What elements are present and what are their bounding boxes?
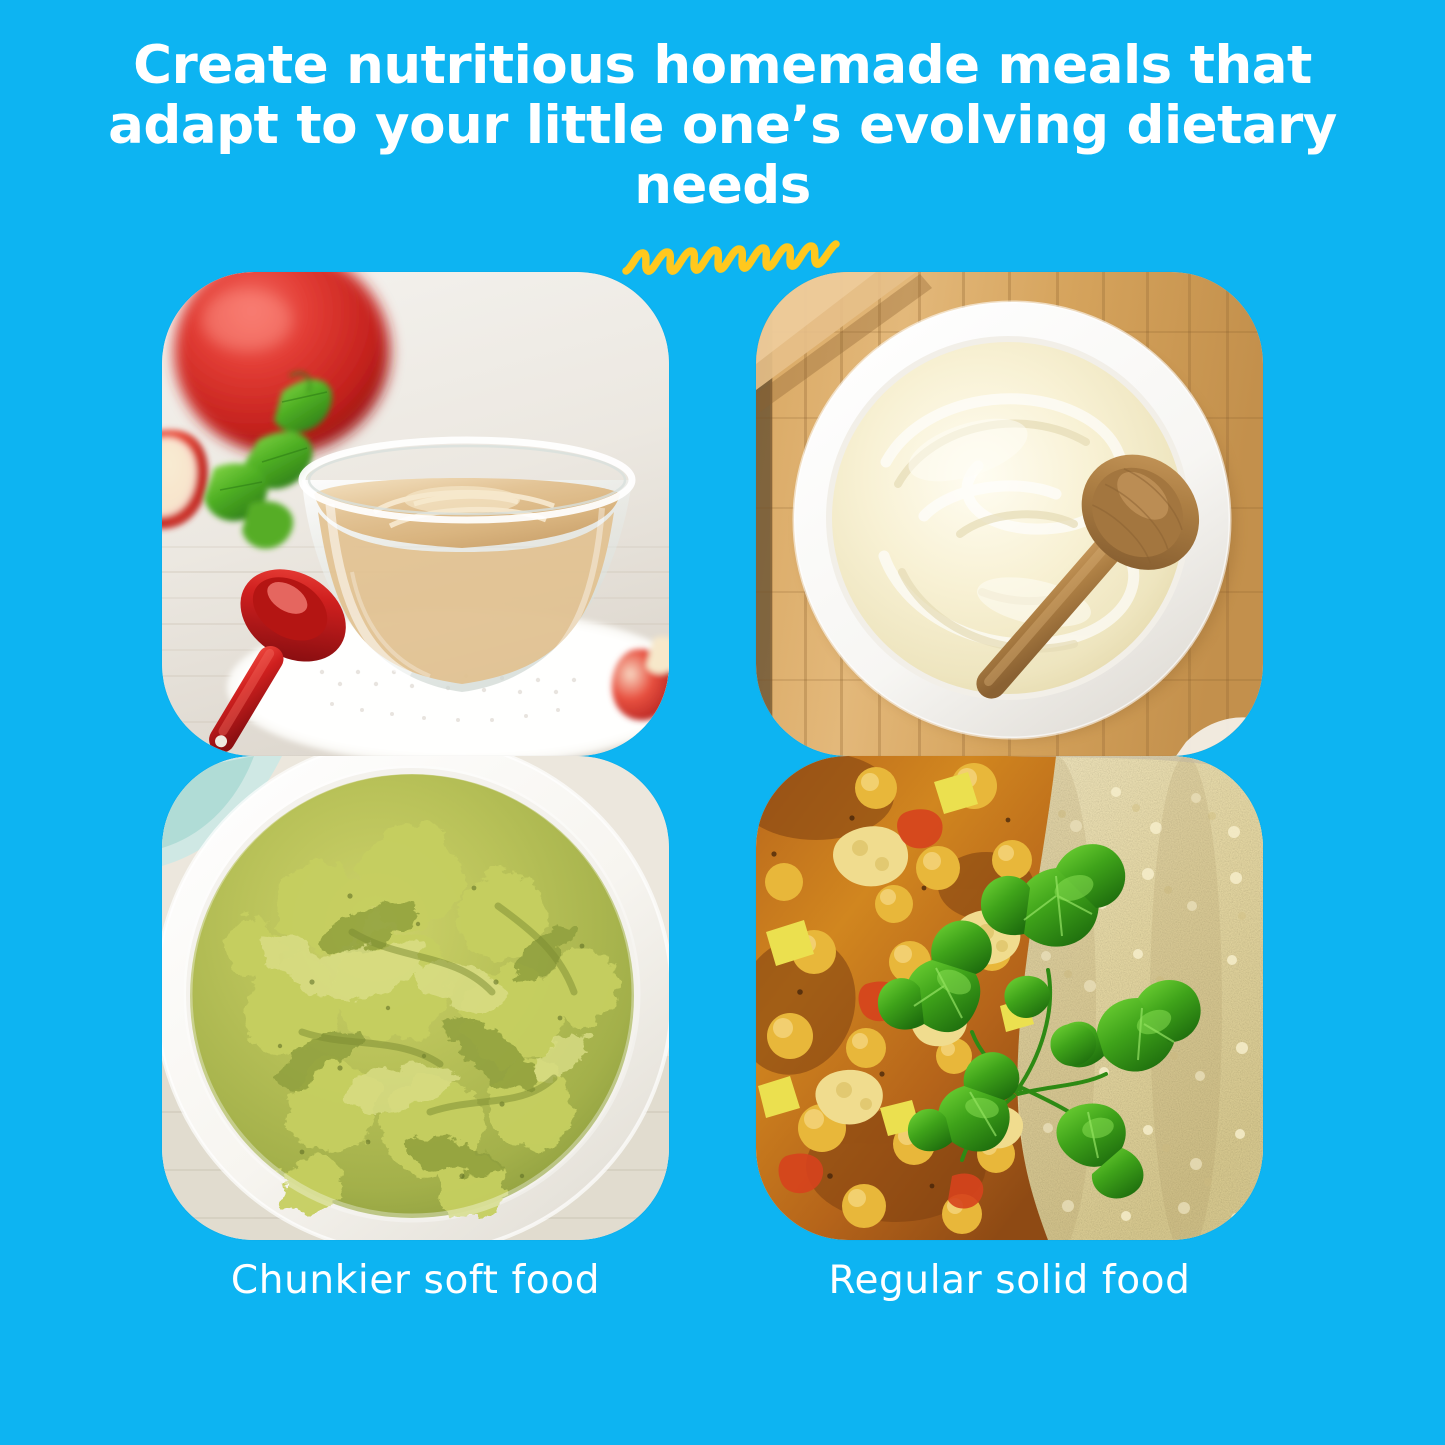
thick-creamy-puree-photo	[756, 272, 1263, 756]
stage-card-regular-solid-food[interactable]: Regular solid food	[756, 756, 1263, 1240]
stage-caption: Chunkier soft food	[162, 1258, 669, 1304]
stage-caption: Regular solid food	[756, 1258, 1263, 1304]
stage-grid: Smooth fruit puree	[162, 272, 1263, 1417]
page-title: Create nutritious homemade meals that ad…	[0, 36, 1445, 216]
chunkier-soft-food-photo	[162, 756, 669, 1240]
stage-card-chunkier-soft-food[interactable]: Chunkier soft food	[162, 756, 669, 1240]
smooth-fruit-puree-photo	[162, 272, 669, 756]
stage-card-thick-creamy-puree[interactable]: Thick creamy puree	[756, 272, 1263, 756]
stage-card-smooth-fruit-puree[interactable]: Smooth fruit puree	[162, 272, 669, 756]
regular-solid-food-photo	[756, 756, 1263, 1240]
